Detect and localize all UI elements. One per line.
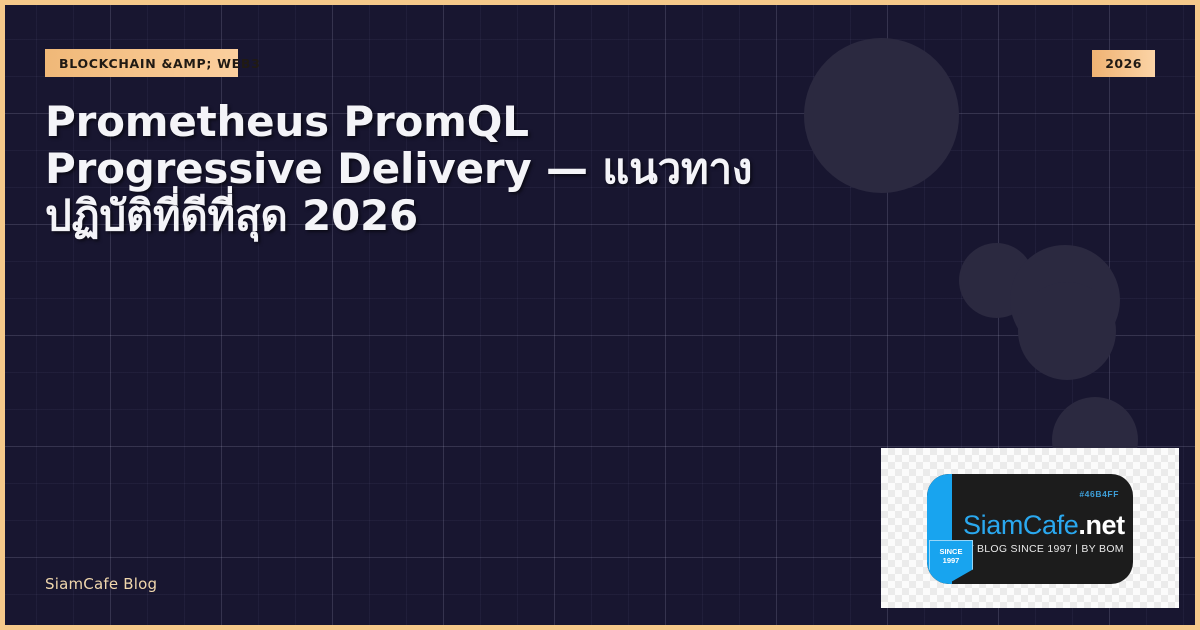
shield-since-label: SINCE [940, 547, 963, 556]
brand-logo-card: #46B4FF SiamCafe.net IT BLOG SINCE 1997 … [881, 448, 1179, 608]
brand-tagline: IT BLOG SINCE 1997 | BY BOM [964, 543, 1124, 555]
social-share-card: BLOCKCHAIN &AMP; WEB3 2026 Prometheus Pr… [0, 0, 1200, 630]
decorative-circle-1 [804, 38, 959, 193]
brand-wordmark-suffix: .net [1078, 510, 1124, 540]
brand-wordmark-primary: SiamCafe [963, 510, 1078, 540]
year-badge: 2026 [1092, 50, 1155, 77]
year-badge-label: 2026 [1105, 56, 1142, 71]
decorative-circle-4 [1018, 282, 1116, 380]
category-badge-label: BLOCKCHAIN &AMP; WEB3 [59, 56, 261, 71]
site-footer-label: SiamCafe Blog [45, 575, 157, 593]
category-badge: BLOCKCHAIN &AMP; WEB3 [45, 49, 238, 77]
brand-hex-code-label: #46B4FF [1079, 489, 1119, 499]
page-title: Prometheus PromQL Progressive Delivery —… [45, 98, 805, 239]
brand-logo-plate: #46B4FF SiamCafe.net IT BLOG SINCE 1997 … [927, 474, 1133, 584]
brand-wordmark: SiamCafe.net [963, 510, 1125, 541]
shield-year-label: 1997 [943, 556, 960, 565]
